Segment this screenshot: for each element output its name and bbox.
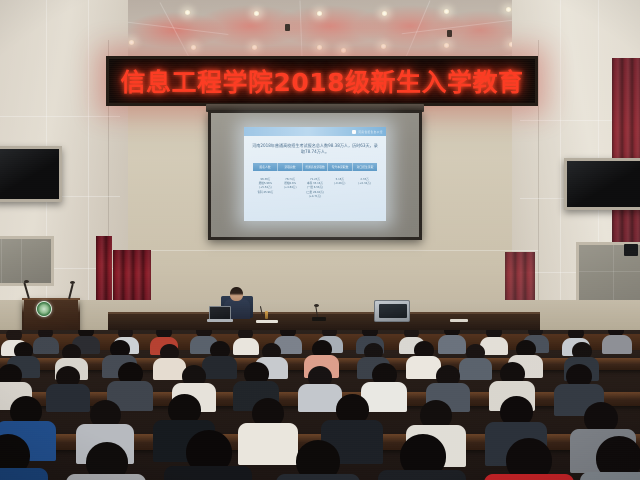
slide-table-body: 98.38万增幅5.96%(+5.54万)专科 45.96万 78.74万增幅6…: [253, 178, 377, 199]
person-torso: [202, 356, 237, 379]
ceiling-spotlight: [505, 7, 512, 12]
ceiling-spotlight: [380, 44, 387, 49]
slide-table-header-cell: 录取总数: [278, 163, 303, 171]
slide-table-header-row: 报名人数 录取总数 普通高校录取数 专升本录取数 对口招生录取: [253, 163, 377, 171]
ceiling-spotlight: [316, 45, 323, 50]
person-torso: [164, 466, 252, 480]
slide-title: 河南2018年普通高校招生考试报名总人数98.38万人，历时63天，录取78.7…: [251, 143, 379, 155]
person-torso: [46, 384, 90, 412]
slide-table-cell: 2.33万(+0.34万): [352, 178, 377, 199]
person-torso: [484, 474, 574, 480]
slide-table-header-cell: 报名人数: [253, 163, 278, 171]
person-torso: [459, 358, 492, 380]
slide-table-header-cell: 对口招生录取: [353, 163, 377, 171]
audience-area: [0, 330, 640, 480]
paper-documents: [450, 319, 468, 322]
slide-header-bar: 河南省招生办公室: [244, 127, 386, 136]
led-banner-text: 信息工程学院2018级新生入学教育: [120, 63, 523, 99]
led-banner: 信息工程学院2018级新生入学教育: [106, 56, 538, 106]
ceiling-spotlight: [251, 45, 258, 50]
window-mullion: [21, 239, 22, 286]
screen-reflection: [567, 161, 640, 207]
person-torso: [238, 423, 298, 465]
slide-table-cell: 98.38万增幅5.96%(+5.54万)专科 45.96万: [253, 178, 278, 199]
person-torso: [233, 338, 259, 355]
left-wall-window: [0, 236, 54, 286]
podium-microphone-head: [70, 281, 75, 284]
person-torso: [580, 472, 640, 480]
slide-table-cell: 71.23万本科 33.16万(一批 6.56万)(二批 26.60万)(+4.…: [303, 178, 328, 199]
ceiling-spotlight: [184, 10, 191, 15]
person-torso: [378, 470, 466, 480]
microphone-base: [312, 317, 326, 321]
ceiling-spotlight: [190, 45, 197, 50]
speaker-head: [230, 287, 243, 301]
presentation-slide: 河南省招生办公室 河南2018年普通高校招生考试报名总人数98.38万人，历时6…: [244, 127, 386, 221]
window-mullion: [1, 239, 2, 286]
person-torso: [66, 474, 146, 480]
table-microphone-head: [314, 304, 319, 307]
slide-table-header-cell: 普通高校录取数: [303, 163, 328, 171]
presenter-laptop-base[interactable]: [207, 319, 233, 322]
person-torso: [438, 335, 466, 354]
ceiling-fixture: [285, 24, 290, 31]
small-wall-monitor: [624, 244, 638, 256]
presenter-laptop-screen[interactable]: [209, 306, 231, 320]
ceiling-spotlight: [443, 43, 450, 48]
ceiling-spotlight: [253, 11, 260, 16]
wall-panel-seam: [0, 116, 120, 117]
wall-panel-seam: [108, 250, 538, 251]
slide-logo-icon: [352, 130, 356, 134]
right-wall-display: [564, 158, 640, 210]
water-bottle: [265, 311, 268, 319]
podium-microphone-head: [24, 280, 29, 283]
left-wall-display: [0, 146, 62, 202]
slide-table-header-cell: 专升本录取数: [328, 163, 353, 171]
person-torso: [0, 468, 48, 480]
slide-table: 报名人数 录取总数 普通高校录取数 专升本录取数 对口招生录取 98.38万增幅…: [253, 163, 377, 199]
slide-table-cell: 5.18万(-0.26万): [327, 178, 352, 199]
confidence-monitor-screen: [379, 304, 407, 318]
screen-reflection: [0, 149, 59, 199]
university-crest-icon: [36, 301, 52, 317]
slide-brand-text: 河南省招生办公室: [358, 130, 383, 134]
led-banner-inner: 信息工程学院2018级新生入学教育: [109, 59, 535, 103]
person-torso: [276, 474, 360, 480]
ceiling-spotlight: [443, 9, 450, 14]
person-torso: [602, 335, 632, 354]
paper-documents: [256, 320, 278, 323]
ceiling-spotlight: [340, 48, 347, 53]
ceiling-spotlight: [128, 40, 135, 45]
ceiling-fixture: [447, 30, 452, 37]
ceiling-spotlight: [381, 11, 388, 16]
auditorium-photo: 信息工程学院2018级新生入学教育 河南省招生办公室 河南2018年普通高校招生…: [0, 0, 640, 480]
person-torso: [33, 337, 59, 354]
ceiling-spotlight: [316, 11, 323, 16]
confidence-monitor[interactable]: [374, 300, 410, 322]
window-mullion: [579, 271, 640, 272]
slide-table-cell: 78.74万增幅6.6%(+4.84万): [278, 178, 303, 199]
